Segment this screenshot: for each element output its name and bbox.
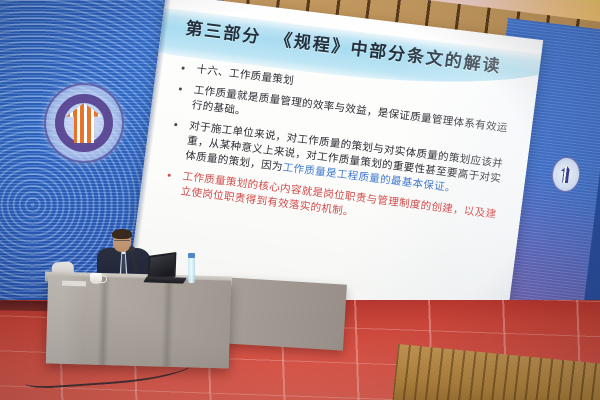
slide-bullet-list: 十六、工作质量策划 工作质量就是质量管理的效率与效益，是保证质量管理体系有效运行… <box>157 60 521 245</box>
emblem-small-mark-icon <box>560 165 573 183</box>
conference-photo-scene: 第三部分《规程》中部分条文的解读 十六、工作质量策划 工作质量就是质量管理的效率… <box>0 0 600 400</box>
presenter-hair <box>112 229 132 239</box>
microphone-icon <box>129 246 135 252</box>
emblem-building-arrow-icon <box>66 103 102 143</box>
side-table <box>223 277 347 350</box>
presenter-glasses-icon <box>114 240 130 245</box>
water-bottle-cap <box>188 253 195 258</box>
water-bottle <box>188 257 195 283</box>
tea-cup-handle <box>100 275 107 283</box>
conference-table <box>46 275 231 368</box>
table-drape-folds <box>46 275 231 368</box>
papers <box>62 281 86 287</box>
association-circular-emblem-icon <box>44 83 124 163</box>
